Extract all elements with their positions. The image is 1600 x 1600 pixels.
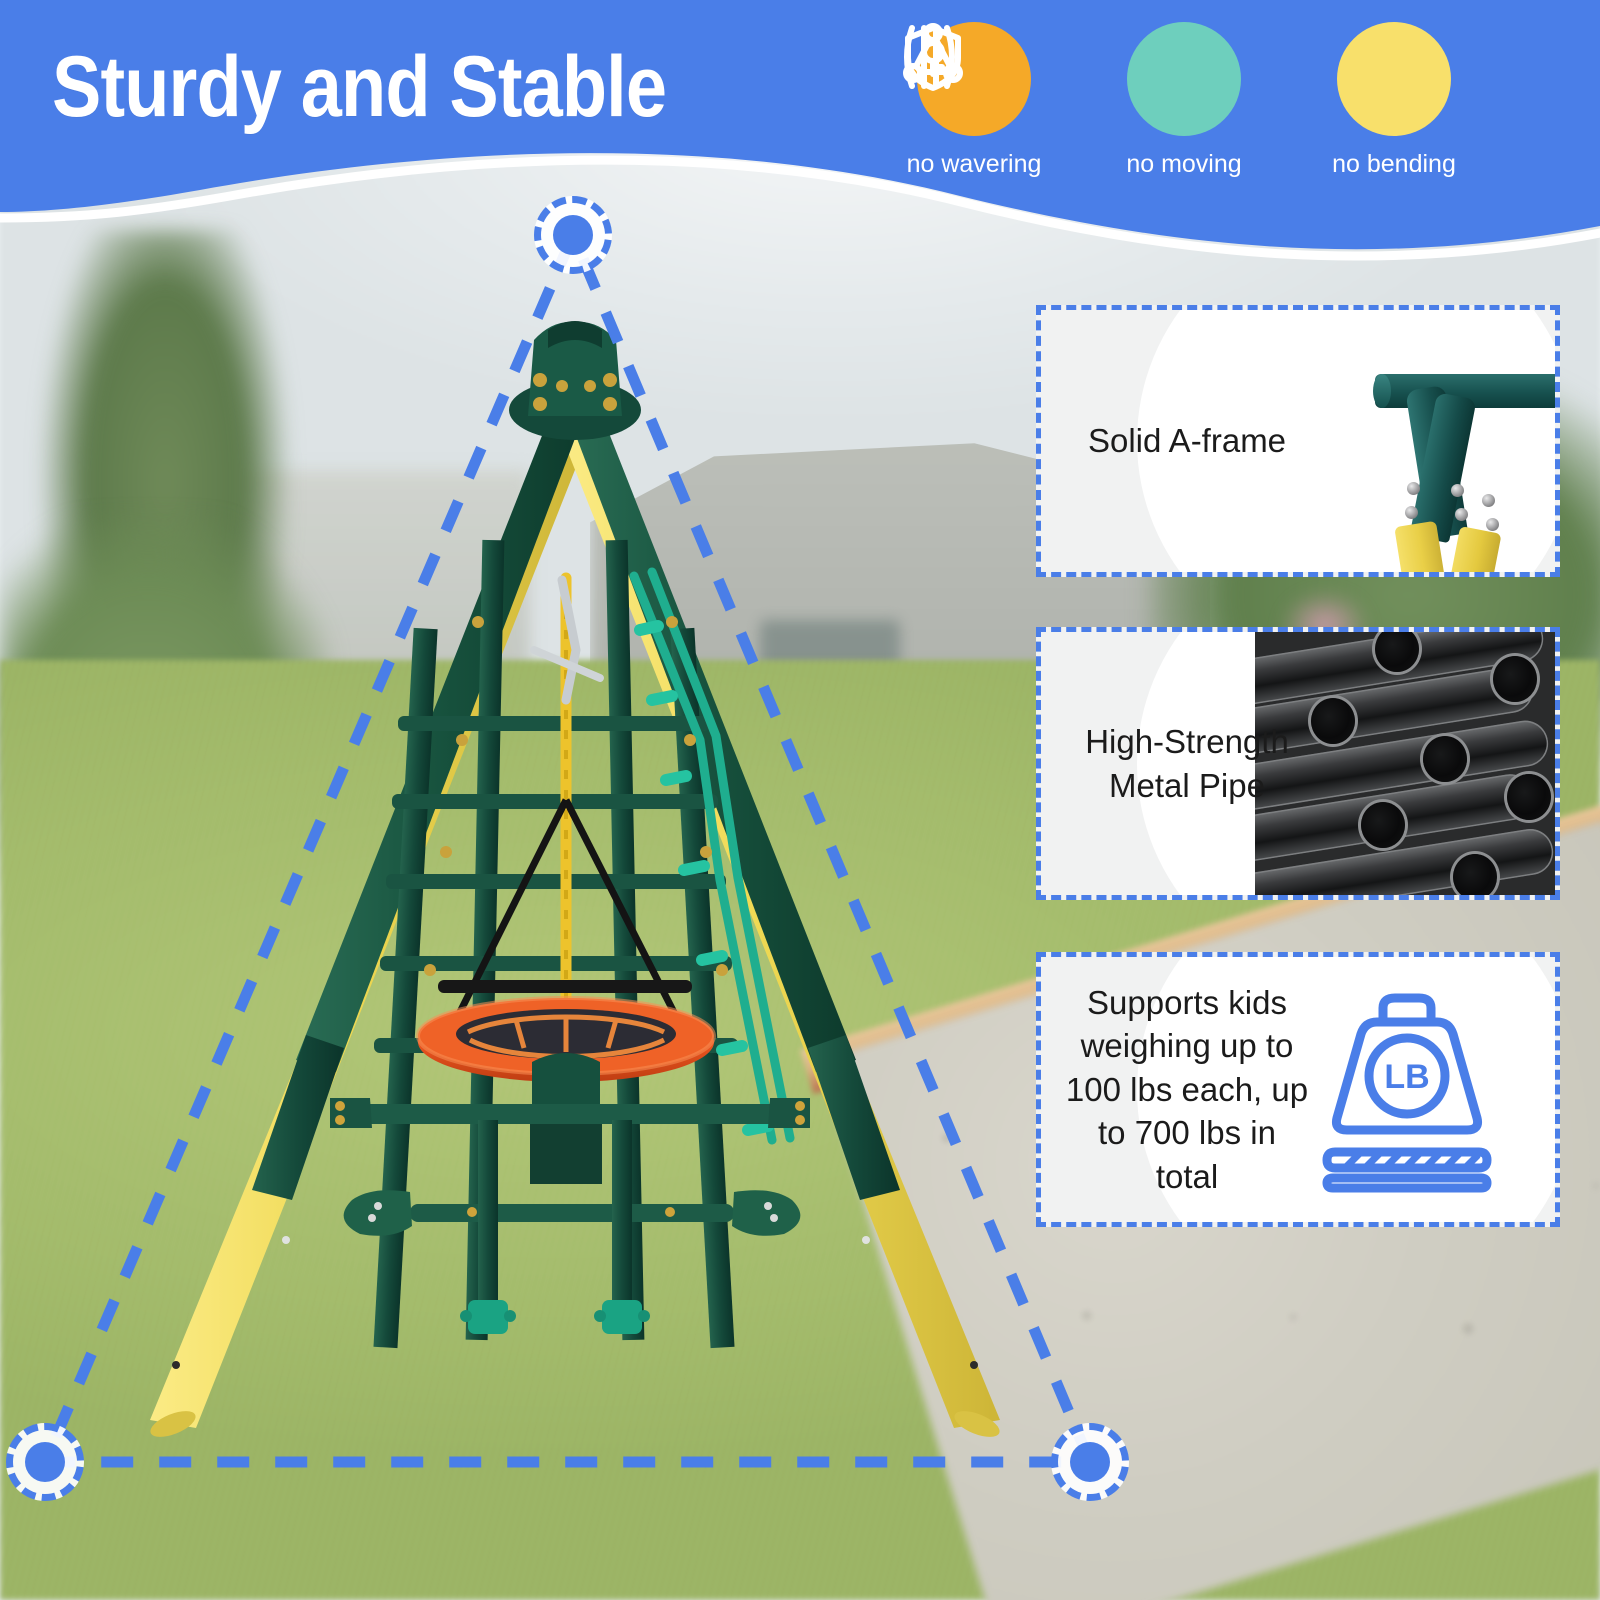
bolt-icon — [1405, 506, 1418, 519]
lb-icon-label: LB — [1384, 1058, 1429, 1096]
bolt-icon — [1486, 518, 1499, 531]
badge-no-moving[interactable]: no moving — [1110, 22, 1258, 202]
feature-card-2-text: High-Strength Metal Pipe — [1041, 720, 1309, 807]
badge-circle-teal — [1127, 22, 1241, 136]
feature-card-metal-pipe[interactable]: High-Strength Metal Pipe — [1036, 627, 1560, 900]
bolt-icon — [1455, 508, 1468, 521]
feature-card-solid-a-frame[interactable]: Solid A-frame — [1036, 305, 1560, 577]
lb-weight-icon: LB — [1299, 986, 1511, 1194]
swing-set-product-photo — [0, 180, 1100, 1500]
page-title: Sturdy and Stable — [52, 38, 666, 137]
badge-label-no-bending: no bending — [1332, 150, 1456, 179]
badge-no-bending[interactable]: no bending — [1320, 22, 1468, 202]
bending-lines-icon — [900, 22, 958, 92]
badge-label-no-moving: no moving — [1126, 150, 1241, 179]
feature-card-weight-capacity[interactable]: Supports kids weighing up to 100 lbs eac… — [1036, 952, 1560, 1227]
badge-label-no-wavering: no wavering — [907, 150, 1042, 179]
infographic-canvas: Solid A-frame High-Strength Metal Pipe — [0, 0, 1600, 1600]
bolt-icon — [1451, 484, 1464, 497]
swing-set-illustration — [0, 180, 1100, 1500]
feature-card-3-text: Supports kids weighing up to 100 lbs eac… — [1041, 981, 1309, 1199]
badge-circle-yellow — [1337, 22, 1451, 136]
feature-card-1-text: Solid A-frame — [1041, 419, 1309, 463]
feature-badge-row: no wavering no moving — [900, 22, 1560, 202]
bolt-icon — [1407, 482, 1420, 495]
bolt-icon — [1482, 494, 1495, 507]
